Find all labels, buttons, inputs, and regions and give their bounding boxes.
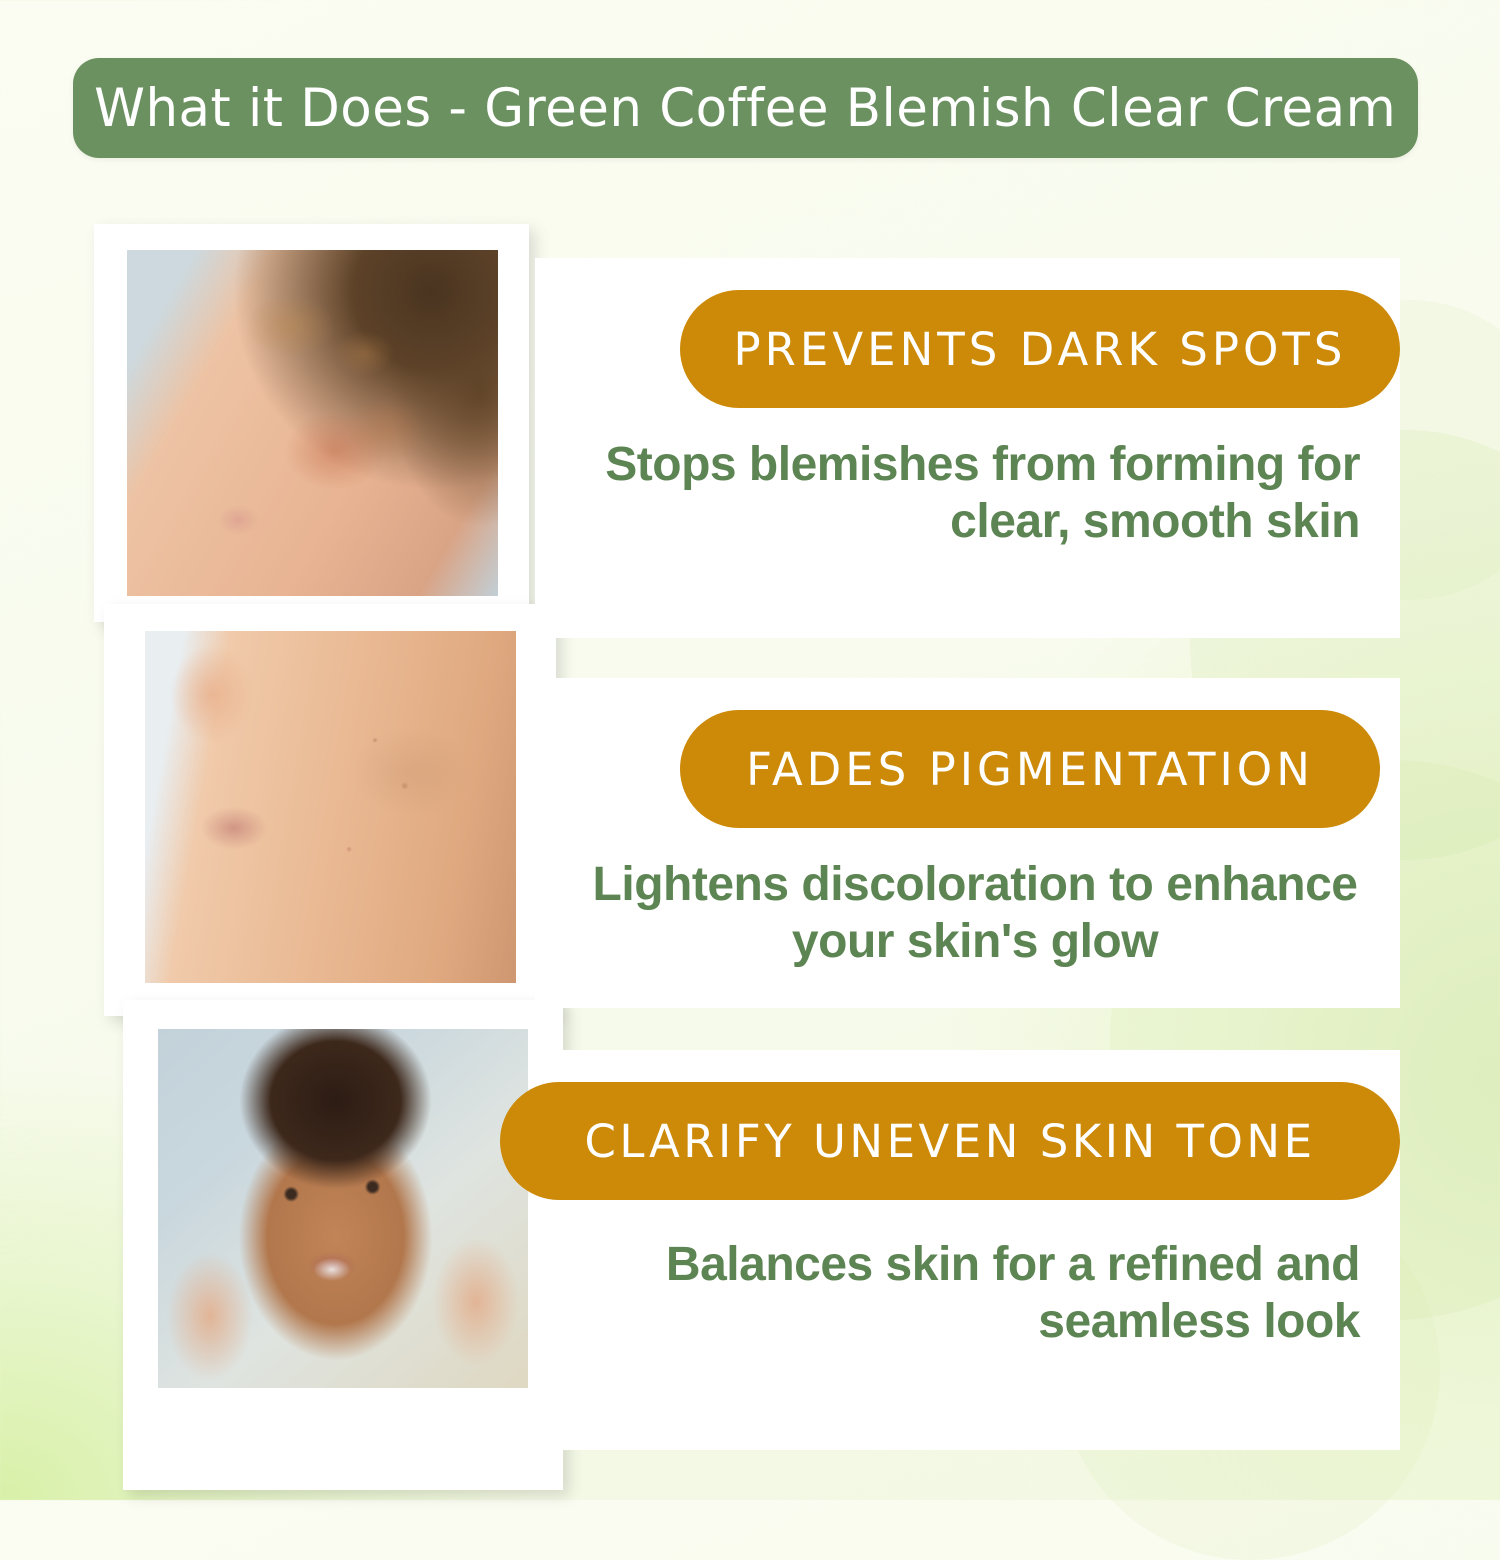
feature-pill-label-1: PREVENTS DARK SPOTS (734, 327, 1347, 372)
feature-block-3: CLARIFY UNEVEN SKIN TONE Balances skin f… (535, 1050, 1400, 1450)
features-column: PREVENTS DARK SPOTS Stops blemishes from… (535, 0, 1500, 1500)
smiling-woman-applying-cream-image (158, 1029, 528, 1388)
cheek-with-acne-scars-image (145, 631, 516, 983)
photo-card-2 (104, 604, 556, 1016)
feature-block-1: PREVENTS DARK SPOTS Stops blemishes from… (535, 258, 1400, 638)
feature-block-2: FADES PIGMENTATION Lightens discoloratio… (535, 678, 1400, 1008)
feature-pill-label-2: FADES PIGMENTATION (746, 747, 1314, 792)
photo-card-1 (94, 224, 529, 622)
feature-pill-label-3: CLARIFY UNEVEN SKIN TONE (584, 1119, 1315, 1164)
photo-frame-2 (145, 631, 516, 983)
photo-frame-3 (158, 1029, 528, 1388)
woman-with-melasma-dark-spots-image (127, 250, 498, 596)
photo-card-3 (123, 1000, 563, 1490)
feature-description-1: Stops blemishes from forming for clear, … (590, 436, 1360, 550)
feature-description-2: Lightens discoloration to enhance your s… (590, 856, 1360, 970)
feature-pill-2: FADES PIGMENTATION (680, 710, 1380, 828)
feature-pill-1: PREVENTS DARK SPOTS (680, 290, 1400, 408)
photo-frame-1 (127, 250, 498, 596)
photo-column (0, 0, 580, 1500)
feature-description-3: Balances skin for a refined and seamless… (590, 1236, 1360, 1350)
feature-pill-3: CLARIFY UNEVEN SKIN TONE (500, 1082, 1400, 1200)
